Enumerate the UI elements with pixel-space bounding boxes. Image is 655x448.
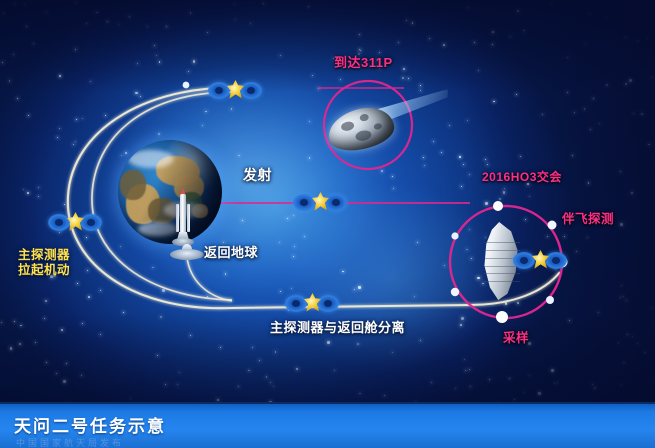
banner-subtitle: 中国国家航天局发布 — [16, 436, 124, 448]
orbit-node — [496, 311, 508, 323]
comet-311p — [326, 95, 422, 157]
mission-diagram: 到达311P 发射 返回地球 主探测器 拉起机动 主探测器与返回舱分离 2016… — [0, 0, 655, 448]
label-main-probe-pullup: 主探测器 拉起机动 — [18, 248, 70, 278]
orbit-node — [548, 221, 557, 230]
orbit-node — [493, 201, 503, 211]
title-banner: 天问二号任务示意 中国国家航天局发布 — [0, 402, 655, 448]
reentry-capsule — [170, 244, 204, 264]
label-launch: 发射 — [243, 165, 272, 185]
label-companion-flight: 伴飞探测 — [562, 208, 614, 227]
orbit-node — [546, 296, 554, 304]
spacecraft-probe-outbound — [208, 78, 262, 104]
banner-title: 天问二号任务示意 — [14, 412, 166, 437]
orbit-node — [183, 82, 190, 89]
spacecraft-probe-companion — [513, 248, 567, 274]
label-sampling: 采样 — [503, 327, 529, 346]
capsule-descent-arc — [187, 258, 232, 301]
label-return-earth: 返回地球 — [204, 242, 258, 261]
launch-rocket — [175, 188, 191, 246]
orbit-node — [451, 288, 459, 296]
label-separation: 主探测器与返回舱分离 — [270, 317, 405, 336]
spacecraft-probe-pullup — [48, 210, 102, 236]
orbit-node — [451, 232, 458, 239]
earth-globe — [118, 140, 222, 244]
spacecraft-probe-cruise — [293, 190, 347, 216]
label-arrive-311p: 到达311P — [334, 52, 393, 71]
label-rendezvous-2016ho3: 2016HO3交会 — [482, 168, 562, 185]
spacecraft-probe-separation — [285, 291, 339, 317]
